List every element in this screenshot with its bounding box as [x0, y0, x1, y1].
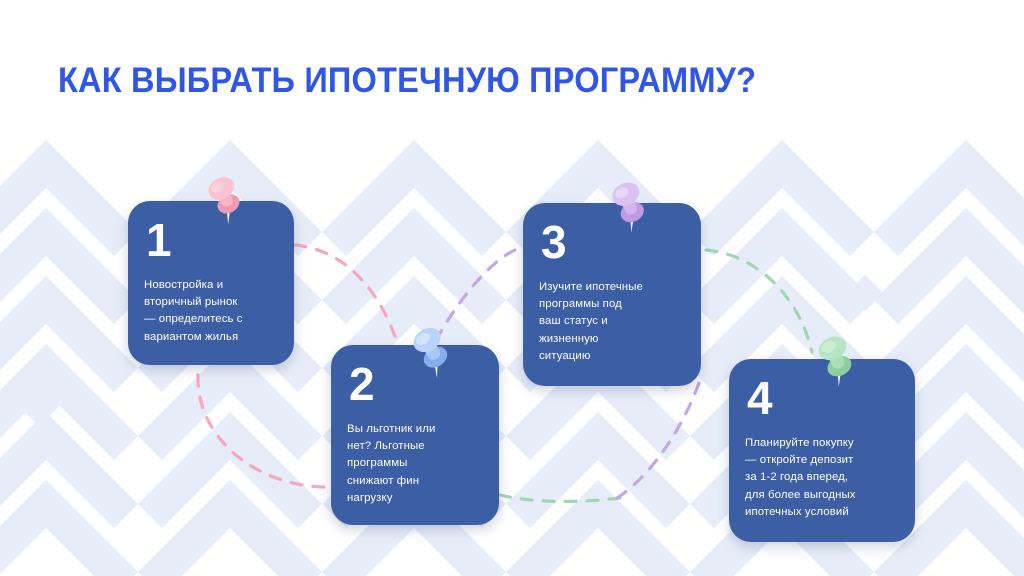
connector-3-to-4: [706, 250, 812, 352]
connector-2-to-4-lower: [500, 495, 620, 501]
step-number-3: 3: [541, 219, 685, 265]
step-text-4: Планируйте покупку — откройте депозит за…: [745, 435, 899, 521]
step-text-2: Вы льготник или нет? Льготные программы …: [347, 421, 483, 507]
step-text-3: Изучите ипотечные программы под ваш стат…: [539, 279, 685, 365]
step-card-2[interactable]: 2 Вы льготник или нет? Льготные программ…: [331, 345, 499, 525]
step-card-1[interactable]: 1 Новостройка и вторичный рынок — опреде…: [128, 201, 294, 365]
connector-2-to-3-lower: [617, 380, 700, 498]
step-number-4: 4: [747, 375, 899, 421]
step-number-1: 1: [146, 217, 278, 263]
infographic-canvas: КАК ВЫБРАТЬ ИПОТЕЧНУЮ ПРОГРАММУ? 1 Новос…: [0, 0, 1024, 576]
step-number-2: 2: [349, 361, 483, 407]
connector-1-to-2-lower: [198, 375, 335, 487]
step-card-3[interactable]: 3 Изучите ипотечные программы под ваш ст…: [523, 203, 701, 386]
step-text-1: Новостройка и вторичный рынок — определи…: [144, 277, 278, 346]
step-card-4[interactable]: 4 Планируйте покупку — откройте депозит …: [729, 359, 915, 542]
page-title: КАК ВЫБРАТЬ ИПОТЕЧНУЮ ПРОГРАММУ?: [58, 60, 756, 102]
connector-1-to-2-upper: [295, 245, 398, 345]
connector-2-to-3: [436, 247, 524, 340]
